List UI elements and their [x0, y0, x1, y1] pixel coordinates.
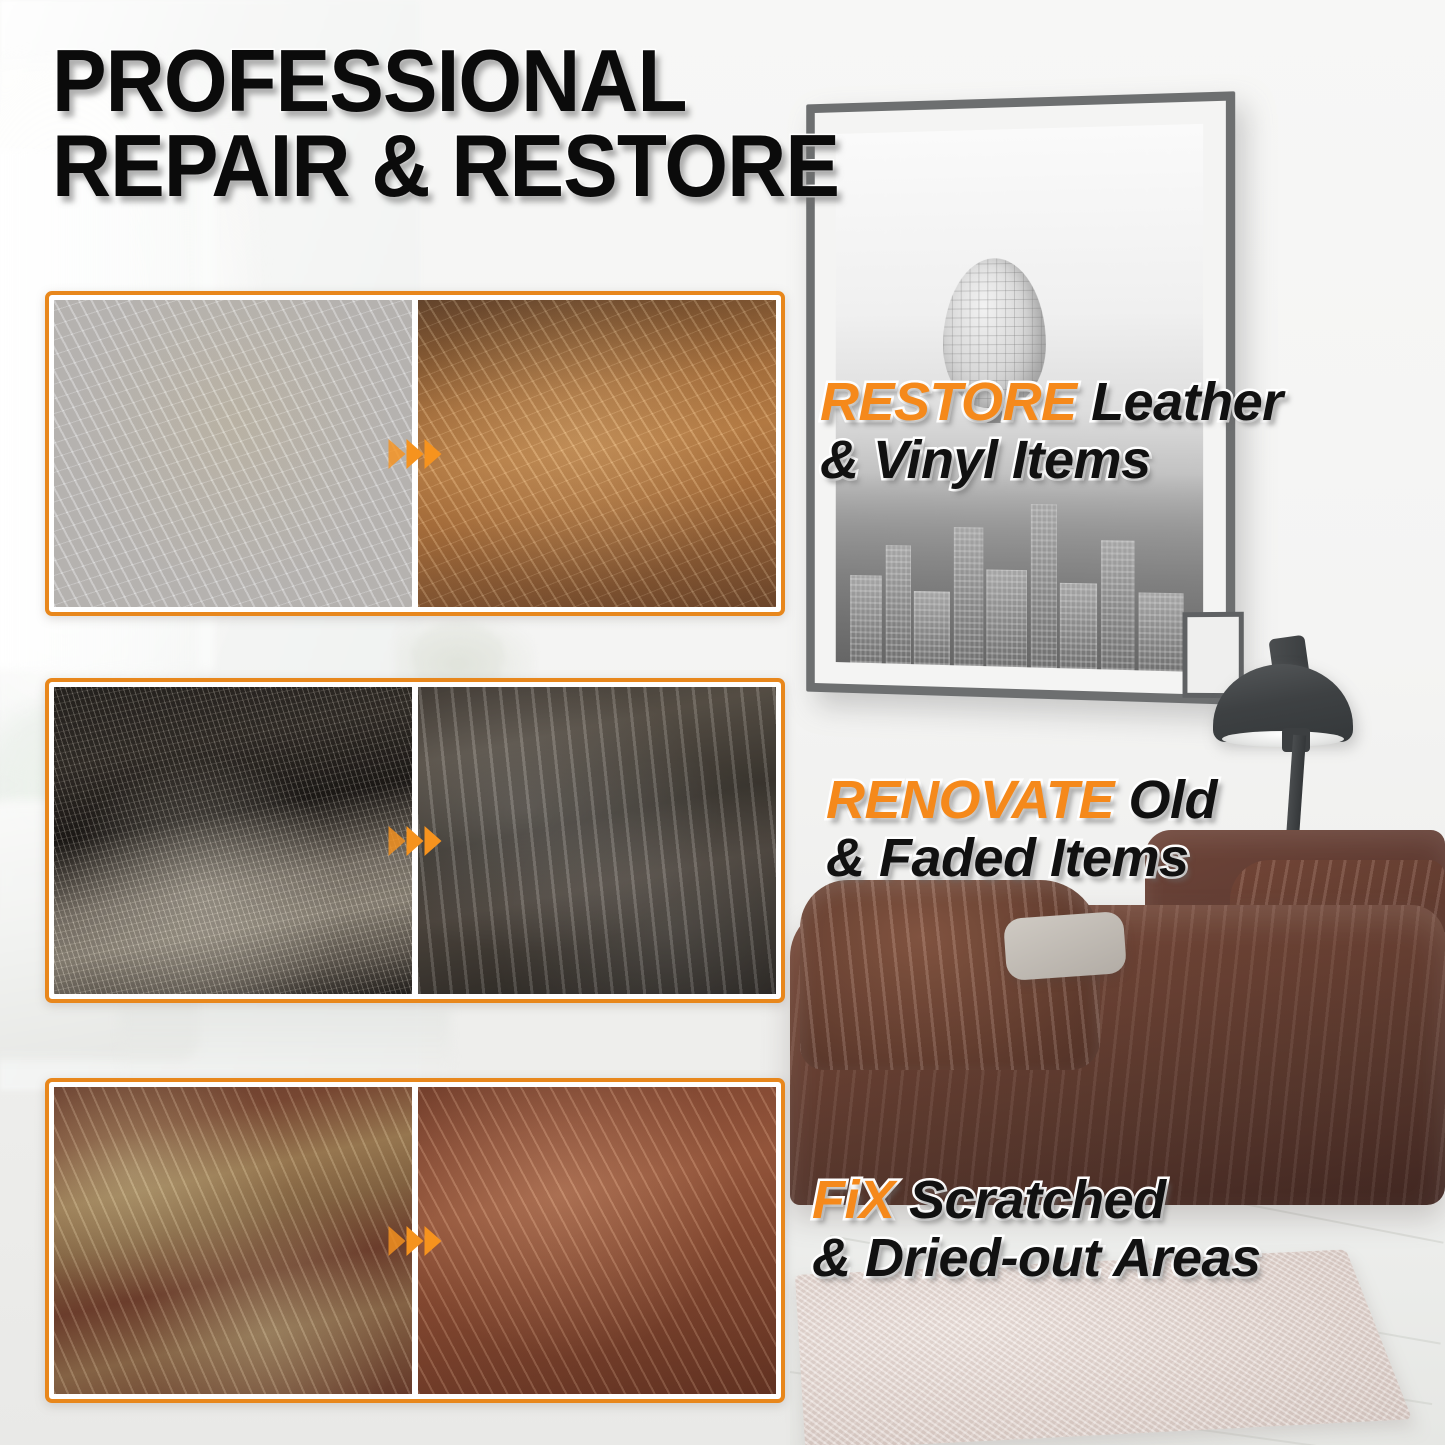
callout-restore-line-2: & Vinyl Items: [820, 432, 1283, 490]
callout-fix-rest: Scratched: [895, 1170, 1166, 1230]
after-photo-tan-sofa: [418, 300, 776, 607]
before-photo-brown-sofa: [54, 1087, 412, 1394]
callout-fix-line-2: & Dried-out Areas: [812, 1230, 1261, 1288]
background-table: [120, 1010, 450, 1080]
after-photo-brown-sofa: [418, 1087, 776, 1394]
callout-restore-keyword: RESTORE: [820, 372, 1077, 432]
after-photo-recliner: [418, 687, 776, 994]
before-photo-tan-sofa: [54, 300, 412, 607]
callout-fix: FiX Scratched & Dried-out Areas: [812, 1172, 1261, 1288]
throw-pillow: [1003, 911, 1127, 981]
callout-renovate: RENOVATE Old & Faded Items: [826, 772, 1217, 888]
callout-restore: RESTORE Leather & Vinyl Items: [820, 374, 1283, 490]
callout-renovate-line-2: & Faded Items: [826, 830, 1217, 888]
cityscape: [836, 472, 1203, 672]
headline-line-2: REPAIR & RESTORE: [52, 123, 839, 208]
callout-renovate-keyword: RENOVATE: [826, 770, 1114, 830]
callout-renovate-line-1: RENOVATE Old: [826, 772, 1217, 830]
callout-fix-keyword: FiX: [812, 1170, 895, 1230]
headline-line-1: PROFESSIONAL: [52, 38, 839, 123]
comparison-panel-brown-sofa: [45, 1078, 785, 1403]
callout-fix-line-1: FiX Scratched: [812, 1172, 1261, 1230]
callout-renovate-rest: Old: [1114, 770, 1217, 830]
comparison-panel-dark-recliner: [45, 678, 785, 1003]
callout-restore-line-1: RESTORE Leather: [820, 374, 1283, 432]
product-infographic: PROFESSIONAL REPAIR & RESTORE: [0, 0, 1445, 1445]
before-photo-recliner: [54, 687, 412, 994]
page-title: PROFESSIONAL REPAIR & RESTORE: [52, 38, 898, 209]
comparison-panel-tan-leather-sofa: [45, 291, 785, 616]
callout-restore-rest: Leather: [1077, 372, 1283, 432]
